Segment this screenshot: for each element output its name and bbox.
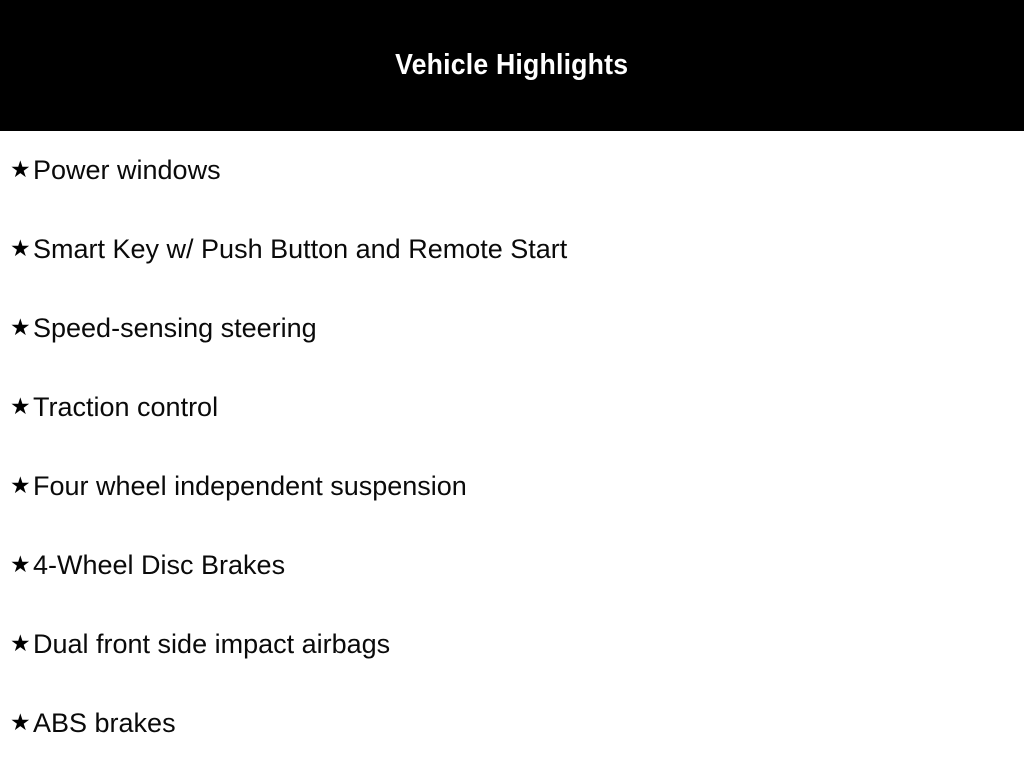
highlight-label: Power windows xyxy=(33,156,221,186)
highlight-label: Four wheel independent suspension xyxy=(33,472,467,502)
highlight-label: Smart Key w/ Push Button and Remote Star… xyxy=(33,235,567,265)
list-item: ★ Traction control xyxy=(0,368,1024,447)
list-item: ★ Speed-sensing steering xyxy=(0,289,1024,368)
list-item: ★ 4-Wheel Disc Brakes xyxy=(0,526,1024,605)
vehicle-highlights-list: ★ Power windows ★ Smart Key w/ Push Butt… xyxy=(0,131,1024,763)
highlight-label: Speed-sensing steering xyxy=(33,314,317,344)
star-bullet-icon: ★ xyxy=(0,238,33,261)
highlight-label: Dual front side impact airbags xyxy=(33,630,390,660)
page-title: Vehicle Highlights xyxy=(395,51,628,80)
list-item: ★ Smart Key w/ Push Button and Remote St… xyxy=(0,210,1024,289)
highlight-label: ABS brakes xyxy=(33,709,176,739)
star-bullet-icon: ★ xyxy=(0,317,33,340)
star-bullet-icon: ★ xyxy=(0,475,33,498)
vehicle-highlights-page: Vehicle Highlights ★ Power windows ★ Sma… xyxy=(0,0,1024,768)
list-item: ★ Power windows xyxy=(0,131,1024,210)
list-item: ★ Dual front side impact airbags xyxy=(0,605,1024,684)
star-bullet-icon: ★ xyxy=(0,554,33,577)
star-bullet-icon: ★ xyxy=(0,633,33,656)
highlight-label: 4-Wheel Disc Brakes xyxy=(33,551,285,581)
list-item: ★ ABS brakes xyxy=(0,684,1024,763)
star-bullet-icon: ★ xyxy=(0,712,33,735)
highlight-label: Traction control xyxy=(33,393,218,423)
star-bullet-icon: ★ xyxy=(0,159,33,182)
list-item: ★ Four wheel independent suspension xyxy=(0,447,1024,526)
star-bullet-icon: ★ xyxy=(0,396,33,419)
header-banner: Vehicle Highlights xyxy=(0,0,1024,131)
